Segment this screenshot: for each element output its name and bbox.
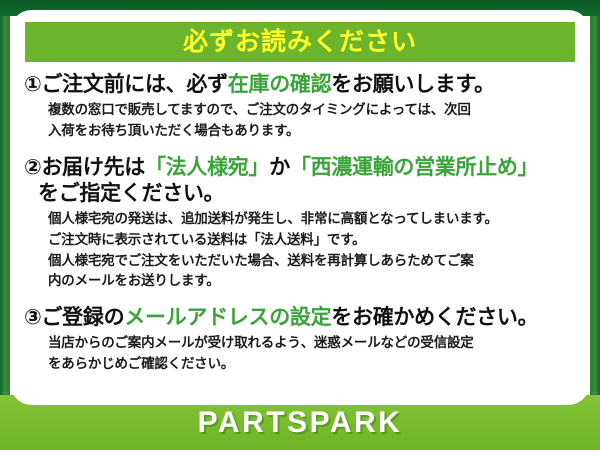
notice-item-3-body-line-1: 当店からのご案内メールが受け取れるよう、迷惑メールなどの受信設定 [48,333,580,354]
notice-item-3: ③ご登録のメールアドレスの設定をお確かめください。 当店からのご案内メールが受け… [24,305,580,374]
notice-card: 必ずお読みください ①ご注文前には、必ず在庫の確認をお願いします。 複数の窓口で… [0,0,600,450]
brand-logo: PARTSPARK [198,408,403,438]
notice-item-1-body: 複数の窓口で販売してますので、ご注文のタイミングによっては、次回 入荷をお待ち頂… [48,100,580,142]
notice-item-1-body-line-1: 複数の窓口で販売してますので、ご注文のタイミングによっては、次回 [48,100,580,121]
notice-item-2-heading-highlight-1: 「法人様宛」 [145,156,269,179]
notice-item-3-body: 当店からのご案内メールが受け取れるよう、迷惑メールなどの受信設定 をあらかじめご… [48,333,580,375]
notice-item-2-heading-part-3: か [269,156,290,179]
notice-item-1: ①ご注文前には、必ず在庫の確認をお願いします。 複数の窓口で販売してますので、ご… [24,72,580,141]
notice-item-3-body-line-2: をあらかじめご確認ください。 [48,354,580,375]
notice-item-1-body-line-2: 入荷をお待ち頂いただく場合もあります。 [48,121,580,142]
notice-item-3-heading: ③ご登録のメールアドレスの設定をお確かめください。 [24,305,580,331]
page-title: 必ずお読みください [183,30,417,55]
notice-item-2-body-line-2: ご注文時に表示されている送料は「法人送料」です。 [48,230,580,251]
notice-item-2-body: 個人様宅宛の発送は、追加送料が発生し、非常に高額となってしまいます。 ご注文時に… [48,209,580,293]
notice-item-2-body-line-1: 個人様宅宛の発送は、追加送料が発生し、非常に高額となってしまいます。 [48,209,580,230]
notice-item-2-body-line-3: 個人様宅宛でご注文をいただいた場合、送料を再計算しあらためてご案 [48,251,580,272]
notice-item-1-heading-part-1: ご注文前には、必ず [41,73,227,96]
notice-items-list: ①ご注文前には、必ず在庫の確認をお願いします。 複数の窓口で販売してますので、ご… [24,72,580,375]
notice-item-1-heading-highlight: 在庫の確認 [228,73,332,96]
notice-item-2-heading: ②お届け先は「法人様宛」か「西濃運輸の営業所止め」 [24,155,580,181]
notice-item-2-heading-line-2: をご指定ください。 [38,181,580,207]
notice-item-1-heading: ①ご注文前には、必ず在庫の確認をお願いします。 [24,72,580,98]
notice-item-3-marker: ③ [24,306,41,329]
notice-item-3-heading-highlight: メールアドレスの設定 [124,306,331,329]
notice-item-2-marker: ② [24,156,41,179]
header-bar: 必ずお読みください [25,22,575,62]
notice-item-3-heading-part-3: をお確かめください。 [331,306,538,329]
notice-item-2: ②お届け先は「法人様宛」か「西濃運輸の営業所止め」 をご指定ください。 個人様宅… [24,155,580,292]
notice-item-2-body-line-4: 内のメールをお送りします。 [48,271,580,292]
notice-item-2-heading-part-1: お届け先は [41,156,145,179]
notice-item-1-marker: ① [24,73,41,96]
notice-item-3-heading-part-1: ご登録の [41,306,124,329]
notice-item-2-heading-highlight-2: 「西濃運輸の営業所止め」 [290,156,538,179]
notice-item-1-heading-part-3: をお願いします。 [331,73,495,96]
content-panel: 必ずお読みください ①ご注文前には、必ず在庫の確認をお願いします。 複数の窓口で… [10,10,590,405]
